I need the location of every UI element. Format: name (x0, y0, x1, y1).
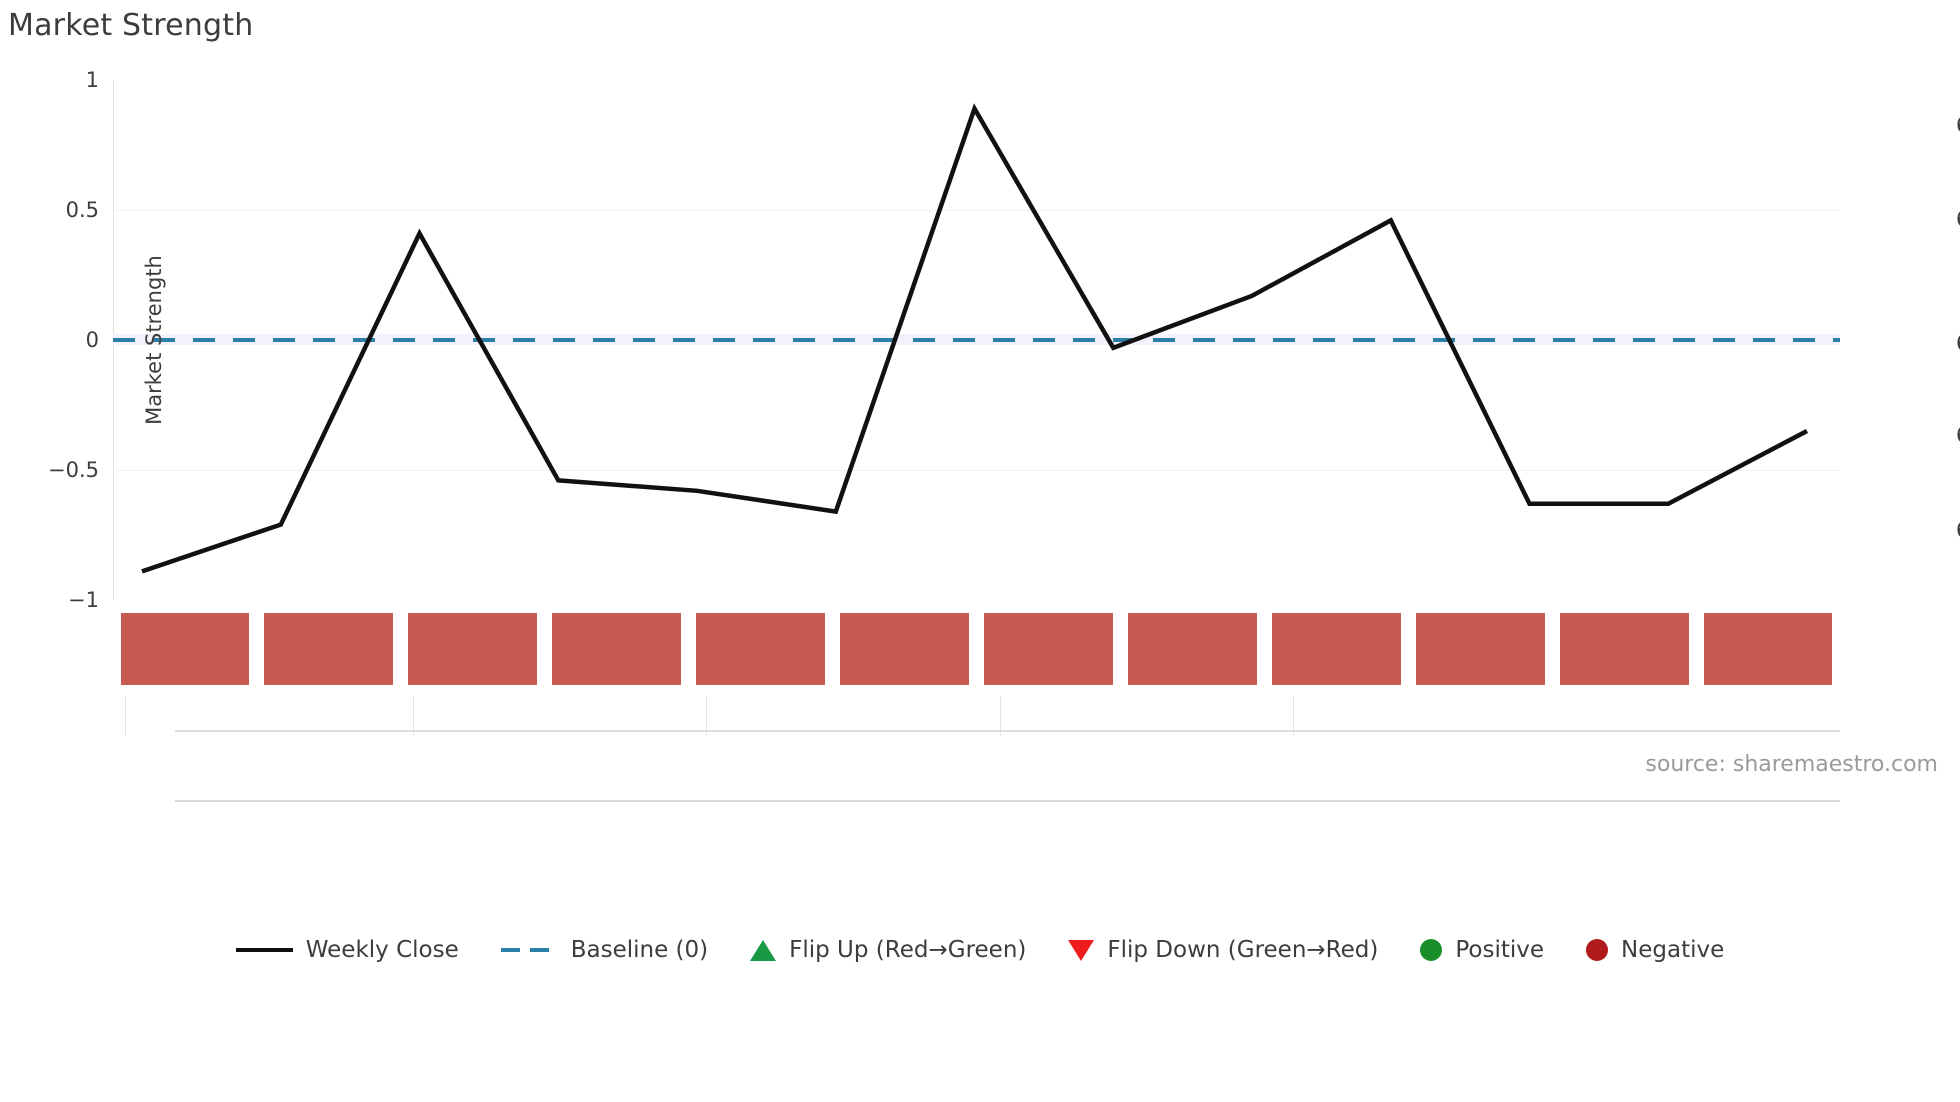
regime-bar (264, 613, 393, 685)
y-tick-right-1: 67.00 (1956, 207, 1960, 231)
x-axis-rule-lower (175, 800, 1840, 802)
legend-item-label: Negative (1621, 937, 1724, 963)
y-tick-right-3: 65.00 (1956, 423, 1960, 447)
legend-item[interactable]: Negative (1586, 937, 1724, 963)
regime-bar (552, 613, 681, 685)
legend-item-label: Positive (1455, 937, 1544, 963)
dashed-line-icon (501, 948, 558, 952)
chart-legend: Weekly CloseBaseline (0)Flip Up (Red→Gre… (0, 928, 1960, 972)
x-axis-zone (113, 690, 1840, 810)
y-tick-right-0: 68.00 (1956, 113, 1960, 137)
solid-line-icon (236, 948, 293, 952)
y-axis-label-left: Market Strength (142, 255, 166, 425)
y-tick-left-2: 0 (33, 328, 99, 352)
triangle-down-icon (1068, 940, 1094, 961)
weekly-close-line (113, 80, 1840, 600)
circle-marker-icon (1420, 939, 1442, 961)
legend-item-label: Flip Up (Red→Green) (789, 937, 1026, 963)
regime-bar (696, 613, 825, 685)
y-tick-left-3: −0.5 (33, 458, 99, 482)
regime-bar (121, 613, 250, 685)
x-tick-0 (125, 696, 126, 736)
regime-bar (984, 613, 1113, 685)
triangle-up-icon (750, 940, 776, 961)
circle-marker-icon (1586, 939, 1608, 961)
page-title: Market Strength (8, 8, 253, 43)
legend-item[interactable]: Weekly Close (236, 937, 459, 963)
y-tick-right-4: 64.00 (1956, 518, 1960, 542)
regime-bar (1416, 613, 1545, 685)
source-note: source: sharemaestro.com (1645, 752, 1938, 777)
legend-item[interactable]: Flip Down (Green→Red) (1068, 937, 1378, 963)
y-tick-left-4: −1 (33, 588, 99, 612)
legend-item-label: Weekly Close (306, 937, 459, 963)
regime-bar (840, 613, 969, 685)
legend-item[interactable]: Flip Up (Red→Green) (750, 937, 1026, 963)
legend-item[interactable]: Baseline (0) (501, 937, 708, 963)
regime-bar (1560, 613, 1689, 685)
legend-item-label: Baseline (0) (571, 937, 708, 963)
legend-item-label: Flip Down (Green→Red) (1107, 937, 1378, 963)
regime-bar (1128, 613, 1257, 685)
regime-bar (1704, 613, 1833, 685)
y-tick-right-2: 66.00 (1956, 331, 1960, 355)
chart-plot-area: 1 0.5 0 −0.5 −1 68.00 67.00 66.00 65.00 … (113, 80, 1840, 600)
regime-bar (1272, 613, 1401, 685)
regime-bar-strip (113, 613, 1840, 685)
y-tick-left-0: 1 (33, 68, 99, 92)
x-axis-rule-upper (175, 730, 1840, 732)
regime-bar (408, 613, 537, 685)
legend-item[interactable]: Positive (1420, 937, 1544, 963)
y-tick-left-1: 0.5 (33, 198, 99, 222)
